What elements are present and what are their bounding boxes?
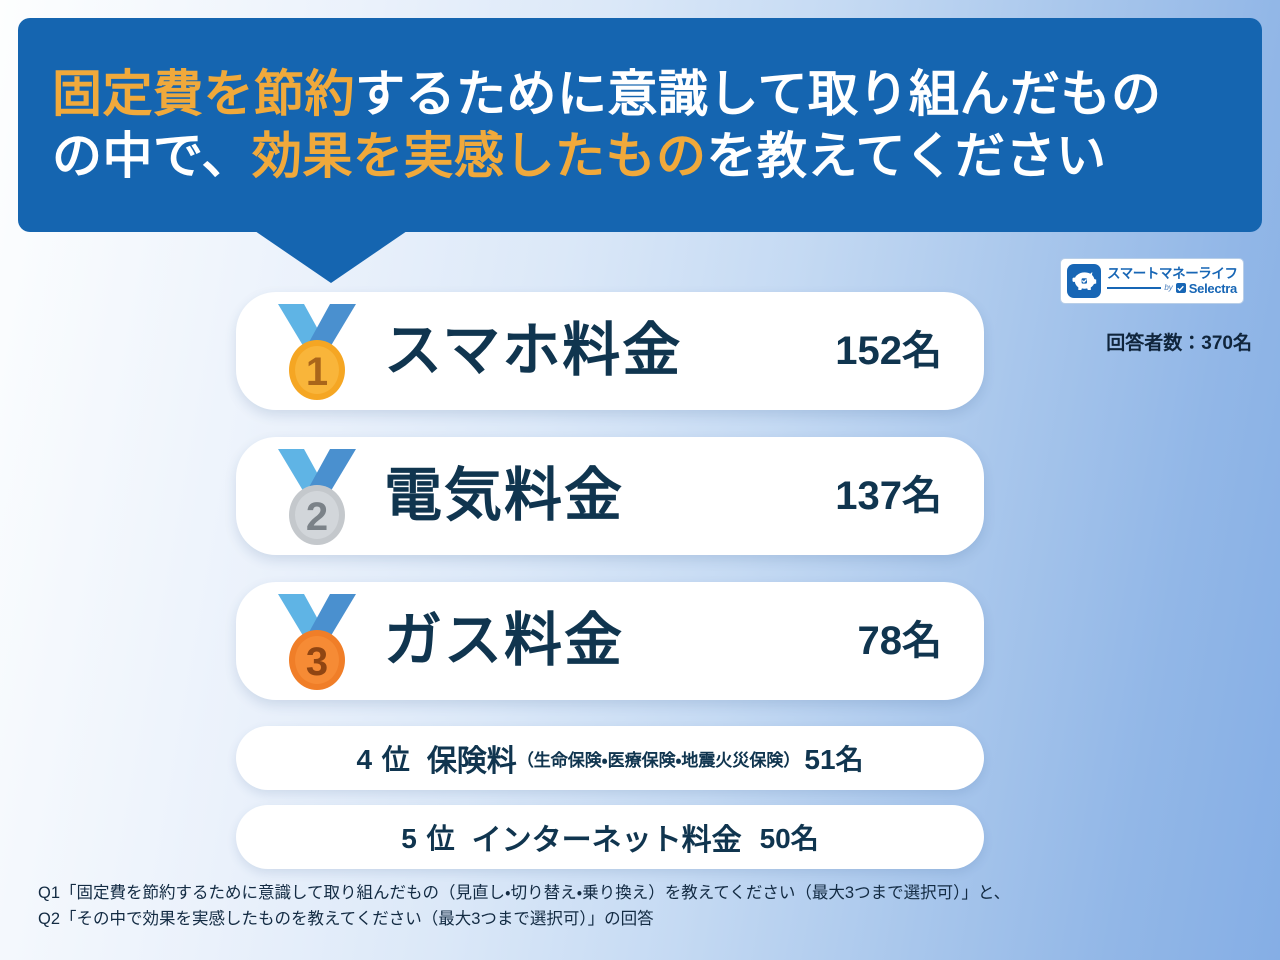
brand-rule <box>1107 287 1161 289</box>
brand-by-label: by <box>1164 284 1172 292</box>
podium-list: 1 スマホ料金 152名 2 電気料金 137名 <box>236 292 984 727</box>
brand-text-block: スマートマネーライフ by Selectra <box>1107 267 1237 295</box>
bronze-medal-icon: 3 <box>264 588 370 694</box>
brand-name: スマートマネーライフ <box>1107 267 1237 282</box>
header-banner: 固定費を節約するために意識して取り組んだもの の中で、効果を実感したものを教えて… <box>18 18 1262 232</box>
svg-text:1: 1 <box>306 350 328 394</box>
rank-count-2: 137名 <box>835 476 942 516</box>
footnote-line-1: Q1「固定費を節約するために意識して取り組んだもの（見直し・切り替え・乗り換え）… <box>38 880 1248 906</box>
infographic-root: 固定費を節約するために意識して取り組んだもの の中で、効果を実感したものを教えて… <box>0 0 1280 960</box>
svg-text:3: 3 <box>306 640 328 684</box>
footnote: Q1「固定費を節約するために意識して取り組んだもの（見直し・切り替え・乗り換え）… <box>38 880 1248 932</box>
rank-card-2: 2 電気料金 137名 <box>236 437 984 555</box>
rank-name-5: インターネット料金 <box>472 815 742 859</box>
rank-card-1: 1 スマホ料金 152名 <box>236 292 984 410</box>
header-line-1-highlight: 固定費を節約 <box>52 66 355 122</box>
rank-count-5: 50名 <box>760 817 819 857</box>
rank-row-5: 5 位 インターネット料金 50名 <box>236 805 984 869</box>
brand-selectra-name: Selectra <box>1189 282 1237 295</box>
banner-pointer-triangle <box>255 231 407 283</box>
svg-text:2: 2 <box>306 495 328 539</box>
rank-position-5: 5 位 <box>401 817 455 857</box>
silver-medal-icon: 2 <box>264 443 370 549</box>
piggy-bank-icon <box>1067 264 1101 298</box>
brand-subline: by Selectra <box>1107 282 1237 295</box>
header-line-1: 固定費を節約するために意識して取り組んだもの <box>52 63 1228 125</box>
rank-count-4: 51名 <box>804 738 863 778</box>
rank-label-1: スマホ料金 <box>384 322 682 380</box>
rank-count-3: 78名 <box>858 621 943 661</box>
header-line-1-plain: するために意識して取り組んだもの <box>355 66 1162 122</box>
rank-note-4: （生命保険・医療保険・地震火災保険） <box>517 746 801 771</box>
header-line-2-plain-start: の中で、 <box>52 128 252 184</box>
brand-logo: スマートマネーライフ by Selectra <box>1060 258 1244 304</box>
rank-row-4: 4 位 保険料 （生命保険・医療保険・地震火災保険） 51名 <box>236 726 984 790</box>
selectra-checkbox-icon <box>1176 283 1186 293</box>
rank-name-4: 保険料 <box>427 736 517 780</box>
rank-label-2: 電気料金 <box>384 467 624 525</box>
footnote-line-2: Q2「その中で効果を実感したものを教えてください（最大3つまで選択可）」の回答 <box>38 906 1248 932</box>
rank-position-4: 4 位 <box>356 738 410 778</box>
rank-count-1: 152名 <box>835 331 942 371</box>
gold-medal-icon: 1 <box>264 298 370 404</box>
header-line-2-highlight: 効果を実感したもの <box>252 128 707 184</box>
rank-card-3: 3 ガス料金 78名 <box>236 582 984 700</box>
minor-rank-list: 4 位 保険料 （生命保険・医療保険・地震火災保険） 51名 5 位 インターネ… <box>236 726 984 884</box>
rank-label-3: ガス料金 <box>384 612 624 670</box>
header-line-2-plain-end: を教えてください <box>707 128 1107 184</box>
respondent-count: 回答者数：370名 <box>1048 328 1252 355</box>
header-line-2: の中で、効果を実感したものを教えてください <box>52 125 1228 187</box>
